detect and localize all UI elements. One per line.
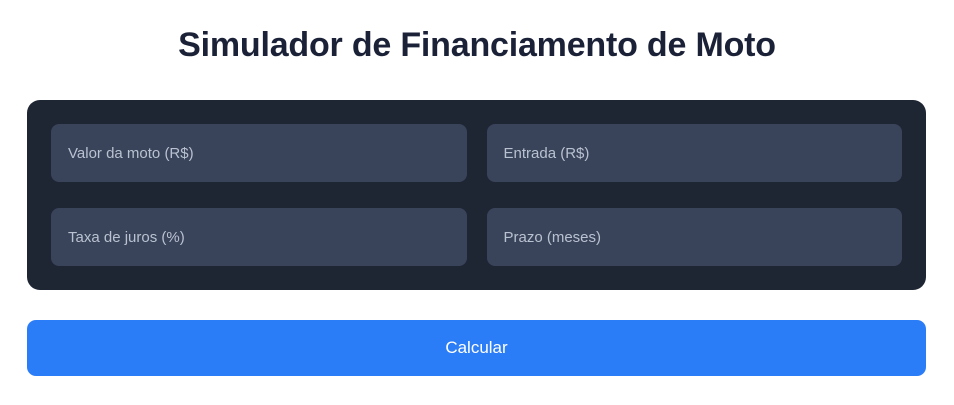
field-row-1 bbox=[51, 124, 902, 182]
taxa-juros-input[interactable] bbox=[51, 208, 467, 266]
entrada-input[interactable] bbox=[487, 124, 903, 182]
field-row-2 bbox=[51, 208, 902, 266]
simulator-page: Simulador de Financiamento de Moto Calcu… bbox=[0, 0, 954, 405]
valor-moto-input[interactable] bbox=[51, 124, 467, 182]
prazo-input[interactable] bbox=[487, 208, 903, 266]
financing-form-card bbox=[27, 100, 926, 290]
page-title: Simulador de Financiamento de Moto bbox=[0, 0, 954, 66]
calculate-button[interactable]: Calcular bbox=[27, 320, 926, 376]
